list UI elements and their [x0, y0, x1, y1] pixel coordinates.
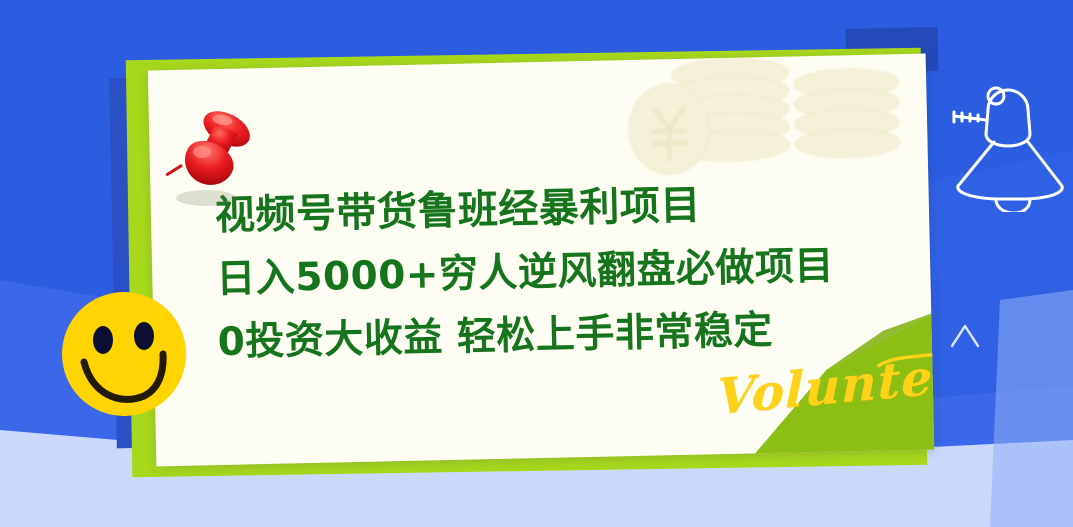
small-line-mark-icon [948, 322, 982, 350]
poster-canvas: 视频号带货鲁班经暴利项目 日入5000+穷人逆风翻盘必做项目 0投资大收益 轻松… [0, 0, 1073, 527]
red-pushpin-icon [150, 94, 270, 214]
smiley-face-icon [58, 288, 190, 420]
headline-block: 视频号带货鲁班经暴利项目 日入5000+穷人逆风翻盘必做项目 0投资大收益 轻松… [214, 170, 918, 374]
poster-stack: 视频号带货鲁班经暴利项目 日入5000+穷人逆风翻盘必做项目 0投资大收益 轻松… [0, 0, 1073, 527]
desk-lamp-outline-icon [944, 82, 1073, 212]
